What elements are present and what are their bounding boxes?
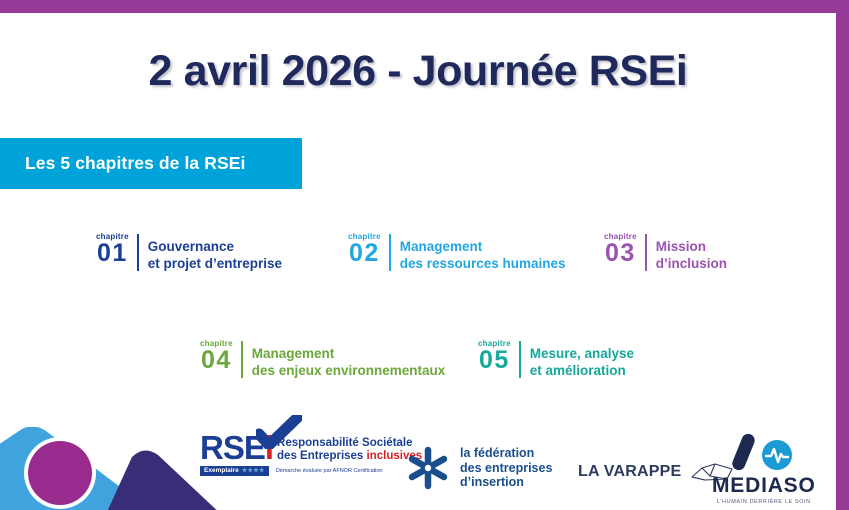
decorative-circle bbox=[28, 441, 92, 505]
partner-logos-row: RSEi Responsabilité Sociétale des Entrep… bbox=[0, 425, 836, 510]
chapter-item-01[interactable]: chapitre 01 Gouvernance et projet d’entr… bbox=[96, 233, 282, 273]
chapter-label-line2: d’inclusion bbox=[656, 255, 727, 272]
chapter-number: 01 bbox=[97, 242, 128, 266]
chapter-divider bbox=[137, 234, 139, 271]
chapter-label-line1: Management bbox=[252, 345, 446, 362]
chapter-number-block: chapitre 04 bbox=[200, 340, 241, 373]
rsei-badge: Exemplaire ★★★★ bbox=[200, 466, 269, 476]
rsei-tagline-line2-a: des Entreprises bbox=[277, 450, 366, 462]
chapter-label: Management des ressources humaines bbox=[400, 233, 566, 273]
chapter-item-02[interactable]: chapitre 02 Management des ressources hu… bbox=[348, 233, 566, 273]
federation-line2: des entreprises bbox=[460, 461, 552, 476]
chapter-label-line1: Mesure, analyse bbox=[530, 345, 634, 362]
chapter-label: Mesure, analyse et amélioration bbox=[530, 340, 634, 380]
chapter-number: 04 bbox=[201, 349, 232, 373]
federation-wordmark: la fédération des entreprises d’insertio… bbox=[460, 446, 552, 490]
chapter-label-line1: Management bbox=[400, 238, 566, 255]
rsei-badge-stars: ★★★★ bbox=[242, 467, 265, 474]
chapter-item-04[interactable]: chapitre 04 Management des enjeux enviro… bbox=[200, 340, 445, 380]
chapter-label-line1: Gouvernance bbox=[148, 238, 282, 255]
chapter-label: Management des enjeux environnementaux bbox=[252, 340, 446, 380]
chapter-item-03[interactable]: chapitre 03 Mission d’inclusion bbox=[604, 233, 727, 273]
rsei-wordmark-row: RSEi Responsabilité Sociétale des Entrep… bbox=[200, 433, 422, 463]
chapter-number: 05 bbox=[479, 349, 510, 373]
varappe-wordmark: LA VARAPPE bbox=[578, 463, 681, 481]
chapter-number-block: chapitre 03 bbox=[604, 233, 645, 266]
page-title: 2 avril 2026 - Journée RSEi bbox=[0, 47, 836, 96]
rsei-badge-label: Exemplaire bbox=[204, 467, 239, 474]
rsei-afnor-note: Démarche évaluée par AFNOR Certification bbox=[276, 468, 383, 474]
federation-line1: la fédération bbox=[460, 446, 552, 461]
chapter-label-line2: et amélioration bbox=[530, 362, 634, 379]
chapter-label-line2: des ressources humaines bbox=[400, 255, 566, 272]
checkmark-icon bbox=[256, 415, 302, 449]
section-banner: Les 5 chapitres de la RSEi bbox=[0, 138, 302, 189]
section-banner-label: Les 5 chapitres de la RSEi bbox=[25, 153, 245, 174]
starburst-icon bbox=[405, 445, 451, 491]
mediaso-wordmark: MEDIASO bbox=[712, 475, 816, 496]
chapter-number-block: chapitre 01 bbox=[96, 233, 137, 266]
chapter-label: Mission d’inclusion bbox=[656, 233, 727, 273]
rsei-tagline-line2: des Entreprises inclusives bbox=[277, 450, 422, 463]
slide-canvas: 2 avril 2026 - Journée RSEi Les 5 chapit… bbox=[0, 13, 836, 510]
logo-rsei: RSEi Responsabilité Sociétale des Entrep… bbox=[200, 433, 422, 476]
chapter-number-block: chapitre 05 bbox=[478, 340, 519, 373]
chapter-number: 02 bbox=[349, 242, 380, 266]
logo-mediaso: MEDIASO L’HUMAIN DERRIÈRE LE SOIN bbox=[712, 433, 816, 505]
logo-federation-entreprises-insertion: la fédération des entreprises d’insertio… bbox=[405, 445, 552, 491]
chapter-label: Gouvernance et projet d’entreprise bbox=[148, 233, 282, 273]
chapter-number-block: chapitre 02 bbox=[348, 233, 389, 266]
chapter-divider bbox=[645, 234, 647, 271]
chapter-item-05[interactable]: chapitre 05 Mesure, analyse et améliorat… bbox=[478, 340, 634, 380]
chapter-divider bbox=[241, 341, 243, 378]
chapter-number: 03 bbox=[605, 242, 636, 266]
mediaso-tagline: L’HUMAIN DERRIÈRE LE SOIN bbox=[717, 499, 811, 505]
mediaso-mark-icon bbox=[725, 433, 803, 471]
rsei-logo-stack: RSEi Responsabilité Sociétale des Entrep… bbox=[200, 433, 422, 476]
chapter-divider bbox=[519, 341, 521, 378]
rsei-certification-row: Exemplaire ★★★★ Démarche évaluée par AFN… bbox=[200, 466, 422, 476]
chapter-label-line2: et projet d’entreprise bbox=[148, 255, 282, 272]
chapter-divider bbox=[389, 234, 391, 271]
chapter-label-line1: Mission bbox=[656, 238, 727, 255]
federation-line3: d’insertion bbox=[460, 475, 552, 490]
slide-frame: 2 avril 2026 - Journée RSEi Les 5 chapit… bbox=[0, 0, 849, 510]
chapter-label-line2: des enjeux environnementaux bbox=[252, 362, 446, 379]
